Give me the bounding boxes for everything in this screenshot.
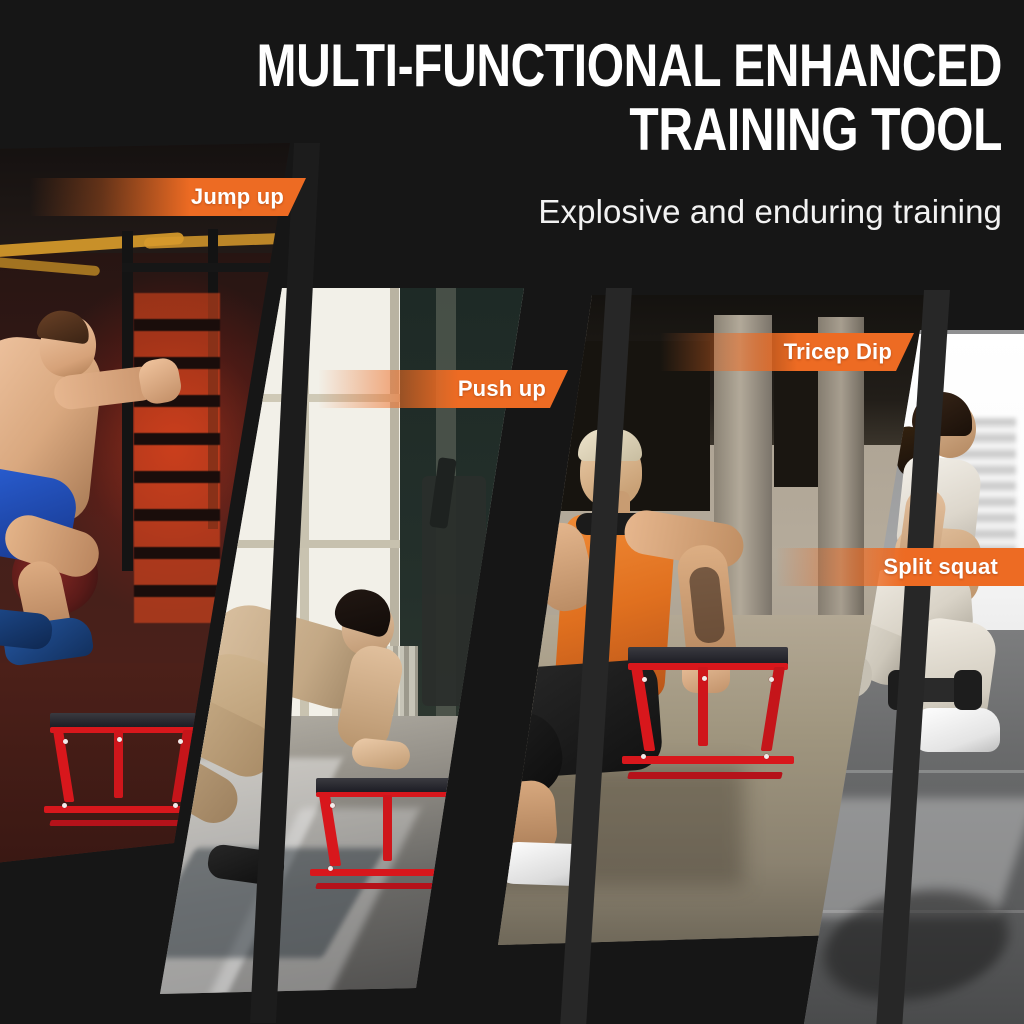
plyo-base-rail-back [627, 772, 782, 779]
page-title: MULTI-FUNCTIONAL ENHANCED TRAINING TOOL [200, 34, 1002, 162]
plyo-top-rail [628, 663, 788, 670]
plyo-rivet [702, 676, 707, 681]
plyo-rivet [642, 677, 647, 682]
plyo-box-tricep-dip [628, 647, 788, 783]
plyo-rivet [330, 803, 335, 808]
plyo-rivet [445, 866, 450, 871]
plyo-box-push-up [316, 778, 468, 892]
plyo-base-rail [44, 806, 202, 813]
label-split-squat: Split squat [776, 548, 1024, 586]
plyo-base-rail-back [315, 883, 462, 889]
label-jump-up: Jump up [30, 178, 306, 216]
plyo-rivet [449, 803, 454, 808]
label-jump-up-text: Jump up [191, 184, 284, 209]
marketing-banner: MULTI-FUNCTIONAL ENHANCED TRAINING TOOL … [0, 0, 1024, 1024]
plyo-box-jump-up [50, 713, 196, 829]
plyo-base-rail [310, 869, 474, 876]
plyo-rivet [62, 803, 67, 808]
label-push-up: Push up [318, 370, 568, 408]
page-subtitle: Explosive and enduring training [538, 193, 1002, 231]
plyo-base-rail-back [49, 820, 191, 826]
rig-crossbar [122, 263, 292, 272]
dumbbell-head-2 [954, 670, 982, 710]
label-split-squat-text: Split squat [883, 554, 998, 579]
rig-bar-yellow-2 [0, 256, 100, 276]
plyo-rivet [178, 739, 183, 744]
plyo-top-rail [50, 727, 196, 733]
athlete-shoe-white [914, 708, 1000, 752]
plyo-rivet [63, 739, 68, 744]
label-tricep-dip-text: Tricep Dip [784, 339, 892, 364]
plyo-leg-right [443, 795, 465, 866]
plyo-rivet [641, 754, 646, 759]
plyo-top-rail [316, 792, 468, 798]
plyo-rivet [769, 677, 774, 682]
label-push-up-text: Push up [458, 376, 546, 401]
plyo-rivet [764, 754, 769, 759]
wall-bars [134, 293, 220, 623]
plyo-leg-middle [383, 795, 392, 861]
label-tricep-dip: Tricep Dip [660, 333, 914, 371]
